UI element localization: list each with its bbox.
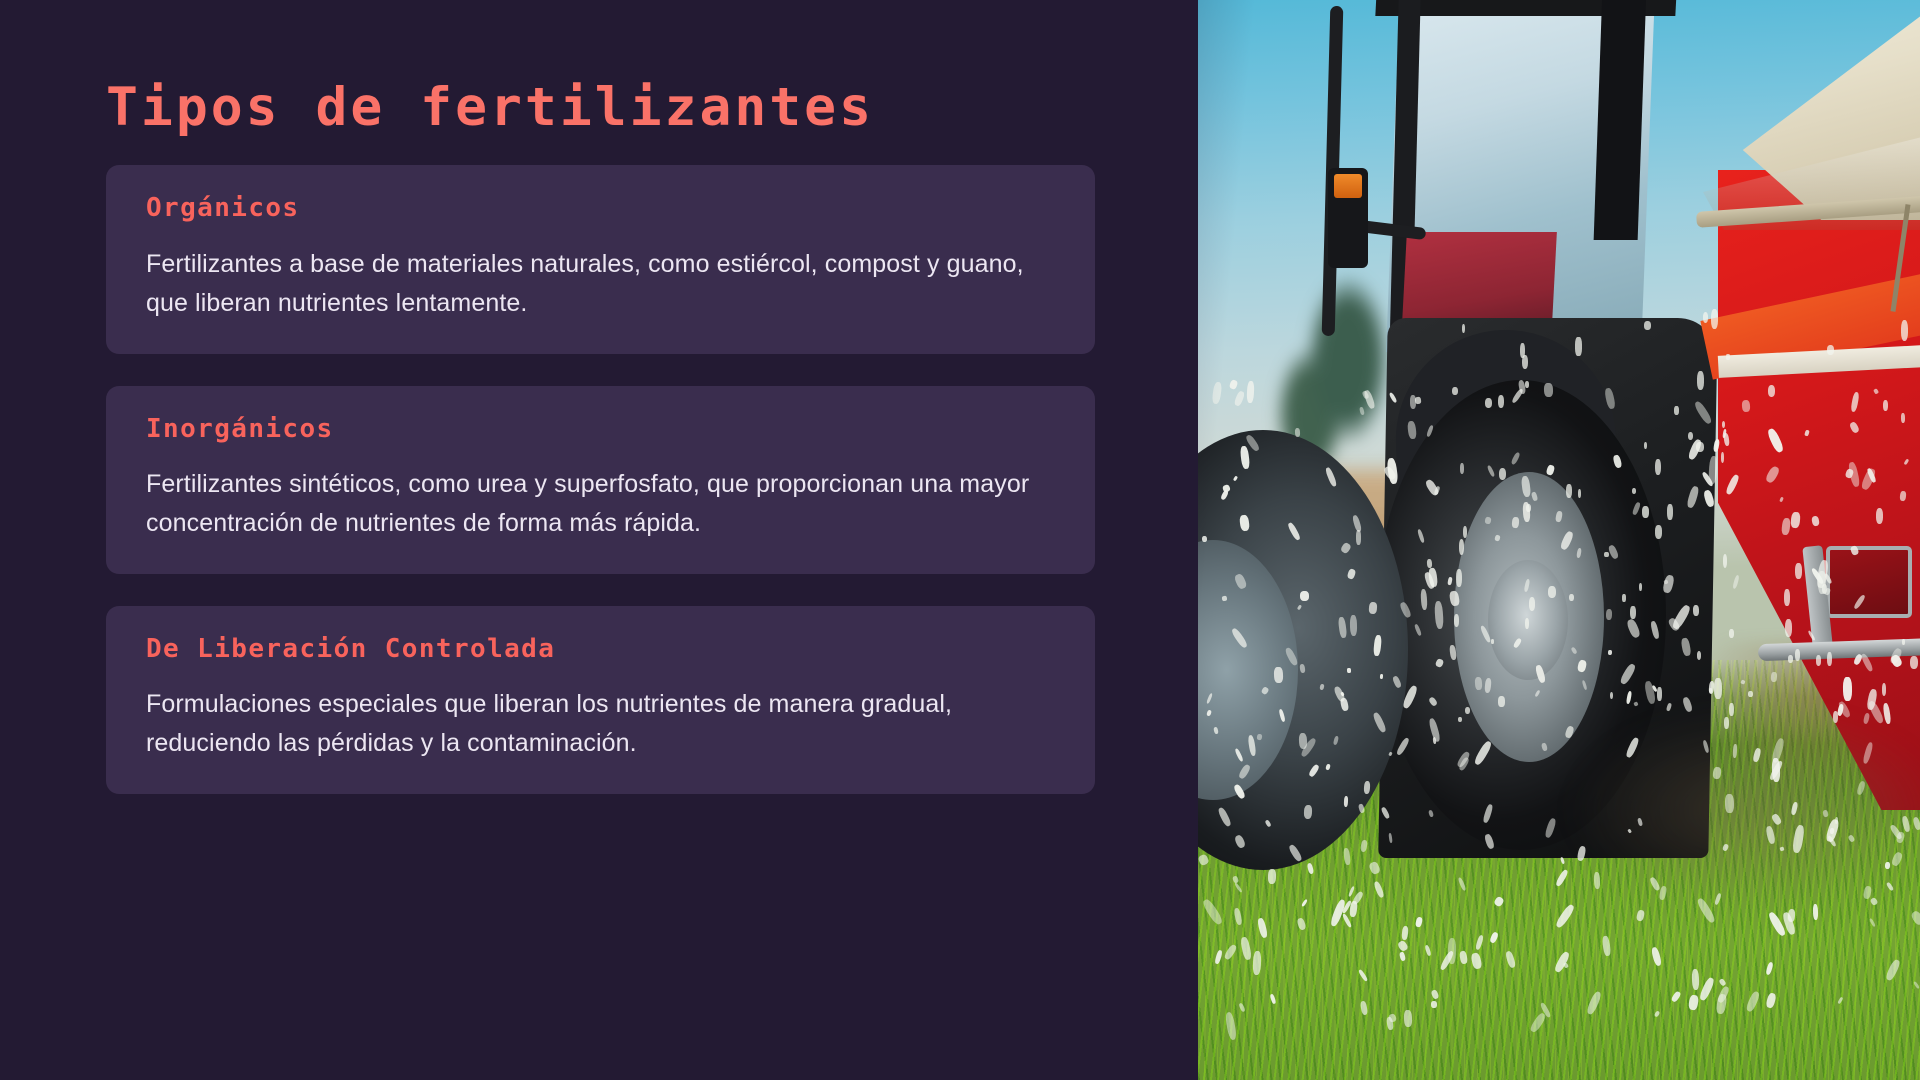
card-title: De Liberación Controlada bbox=[146, 634, 1059, 665]
card-body: Fertilizantes sintéticos, como urea y su… bbox=[146, 465, 1046, 544]
cab-pillar-right bbox=[1594, 0, 1647, 240]
card-body: Formulaciones especiales que liberan los… bbox=[146, 685, 1046, 764]
card-list: Orgánicos Fertilizantes a base de materi… bbox=[106, 165, 1095, 794]
card-organicos: Orgánicos Fertilizantes a base de materi… bbox=[106, 165, 1095, 353]
card-inorganicos: Inorgánicos Fertilizantes sintéticos, co… bbox=[106, 386, 1095, 574]
slide: Tipos de fertilizantes Orgánicos Fertili… bbox=[0, 0, 1920, 1080]
card-title: Inorgánicos bbox=[146, 414, 1059, 445]
card-title: Orgánicos bbox=[146, 193, 1059, 224]
spreader-outlet bbox=[1826, 546, 1912, 618]
indicator-lamp bbox=[1334, 174, 1362, 198]
dust-cloud bbox=[1498, 630, 1920, 930]
page-title: Tipos de fertilizantes bbox=[106, 78, 1095, 137]
card-liberacion-controlada: De Liberación Controlada Formulaciones e… bbox=[106, 606, 1095, 794]
content-panel: Tipos de fertilizantes Orgánicos Fertili… bbox=[0, 0, 1198, 1080]
card-body: Fertilizantes a base de materiales natur… bbox=[146, 245, 1046, 324]
tractor-fertilizer-photo bbox=[1198, 0, 1920, 1080]
